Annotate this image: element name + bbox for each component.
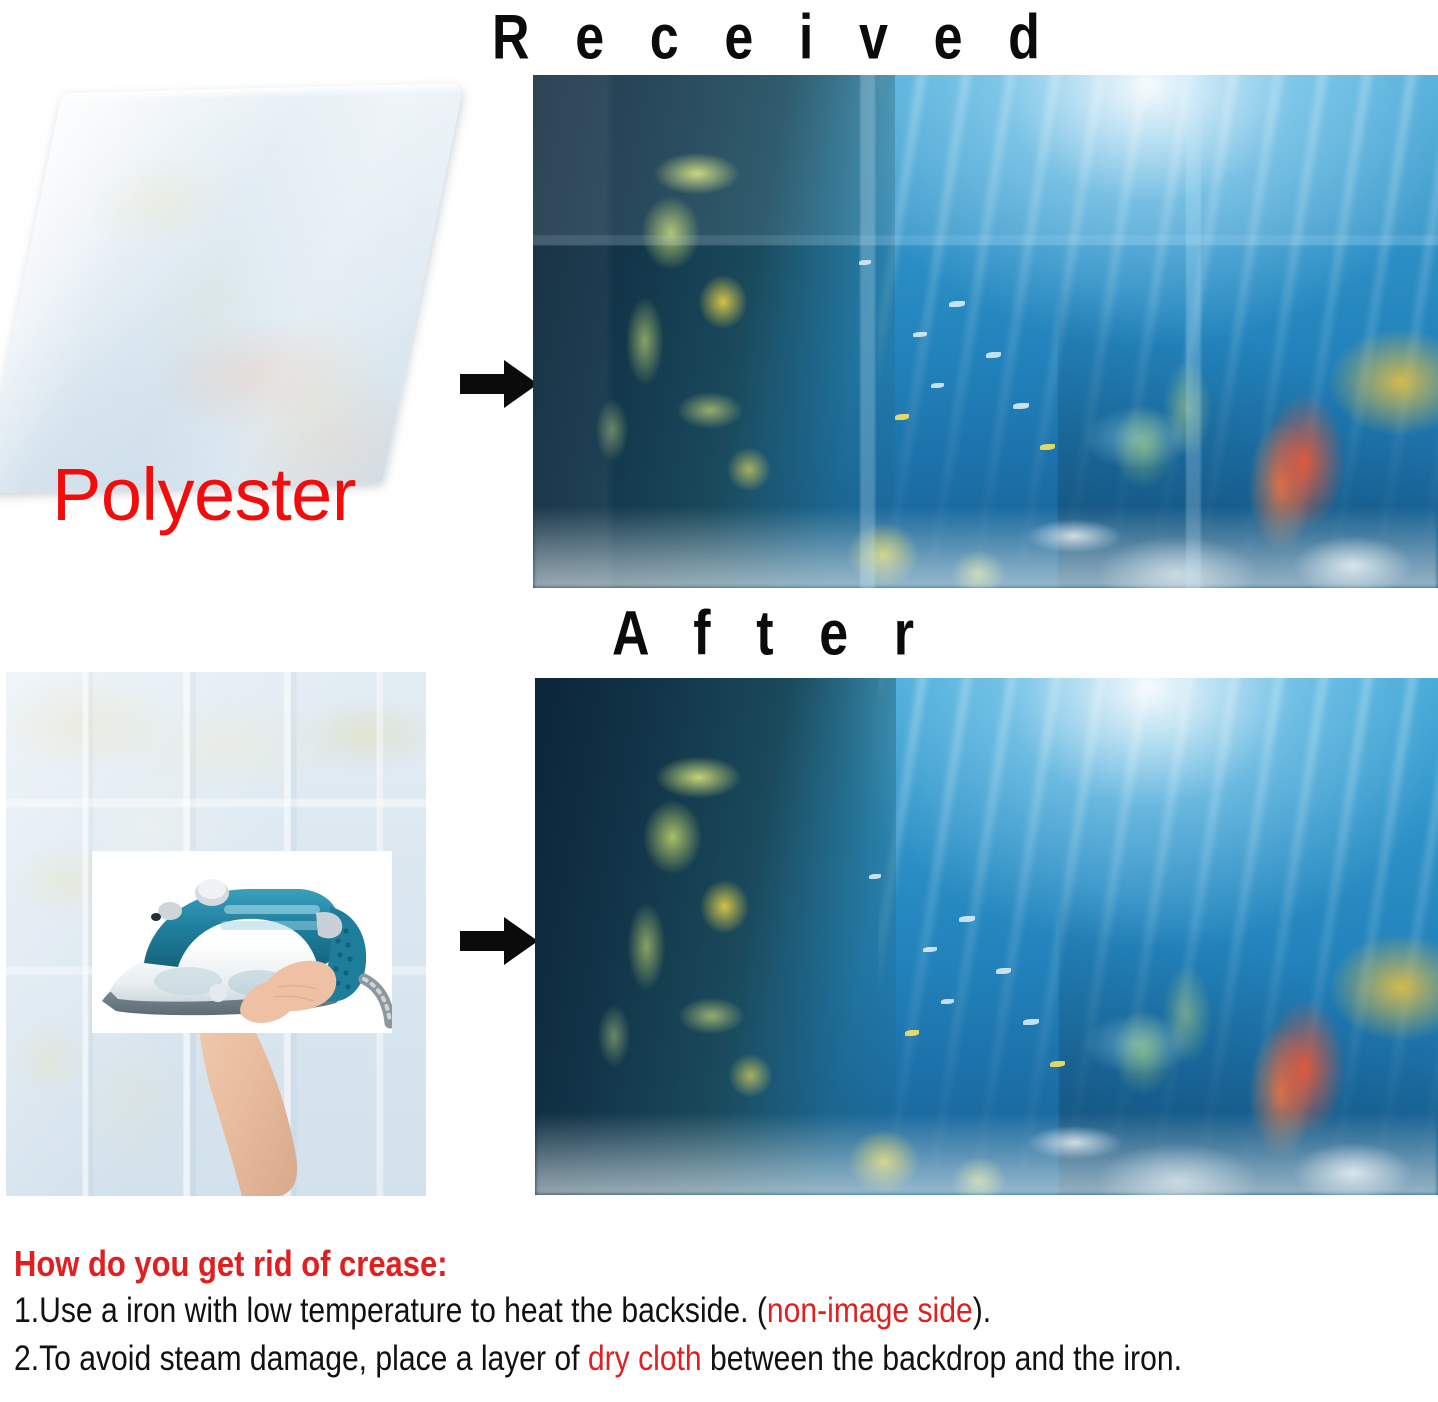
sea-floor [535,1112,1438,1195]
fish [959,916,975,922]
line2-highlight: dry cloth [588,1339,702,1378]
received-backdrop-image [533,75,1438,588]
instructions-heading: How do you get rid of crease: [14,1244,1233,1284]
iron-photo-inset [92,851,392,1033]
line1-suffix: ). [973,1291,991,1330]
fish [996,968,1011,974]
fish [941,999,954,1004]
folded-fabric-photo [0,83,464,493]
instruction-line-2: 2.To avoid steam damage, place a layer o… [14,1338,1233,1381]
polyester-label: Polyester [52,458,356,532]
line1-prefix: 1.Use a iron with low temperature to hea… [14,1291,767,1330]
received-heading: R e c e i v e d [492,6,1056,69]
instructions-block: How do you get rid of crease: 1.Use a ir… [14,1244,1432,1381]
instruction-line-1: 1.Use a iron with low temperature to hea… [14,1290,1233,1333]
line1-highlight: non-image side [767,1291,973,1330]
infographic-canvas: R e c e i v e d Polyester A f t e r [0,0,1438,1402]
steam-iron-icon [92,851,392,1033]
line2-prefix: 2.To avoid steam damage, place a layer o… [14,1339,588,1378]
fish [923,947,937,952]
fish [1050,1061,1065,1067]
right-arrow-icon [460,915,538,967]
line2-suffix: between the backdrop and the iron. [702,1339,1182,1378]
fish [905,1030,919,1036]
crease-lines-secondary [533,75,1438,588]
after-backdrop-image [535,678,1438,1195]
fabric-sheen [0,83,464,493]
right-arrow-icon [460,358,538,410]
after-heading: A f t e r [612,602,930,665]
